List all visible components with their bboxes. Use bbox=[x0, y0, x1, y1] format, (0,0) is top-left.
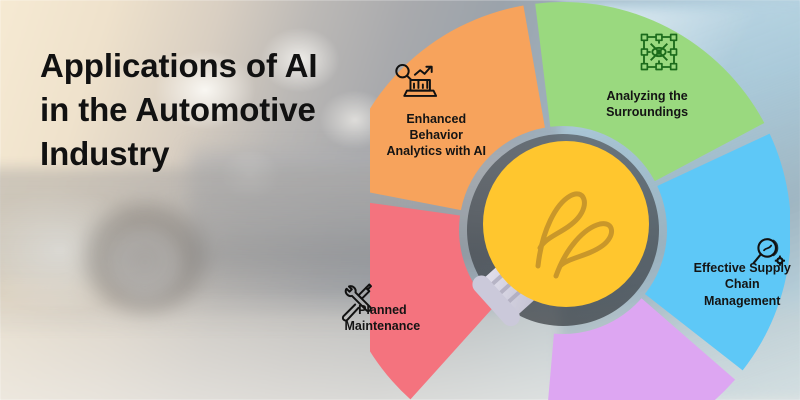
title-line-3: Industry bbox=[40, 132, 370, 176]
page-title: Applications of AI in the Automotive Ind… bbox=[40, 44, 370, 177]
background-car-wheel bbox=[0, 168, 400, 338]
donut-wheel: PlannedMaintenance EnhancedBehaviorAnaly… bbox=[370, 0, 790, 400]
lightbulb-globe bbox=[483, 141, 649, 307]
title-line-2: in the Automotive bbox=[40, 88, 370, 132]
infographic-canvas: Applications of AI in the Automotive Ind… bbox=[0, 0, 800, 400]
title-line-1: Applications of AI bbox=[40, 44, 370, 88]
